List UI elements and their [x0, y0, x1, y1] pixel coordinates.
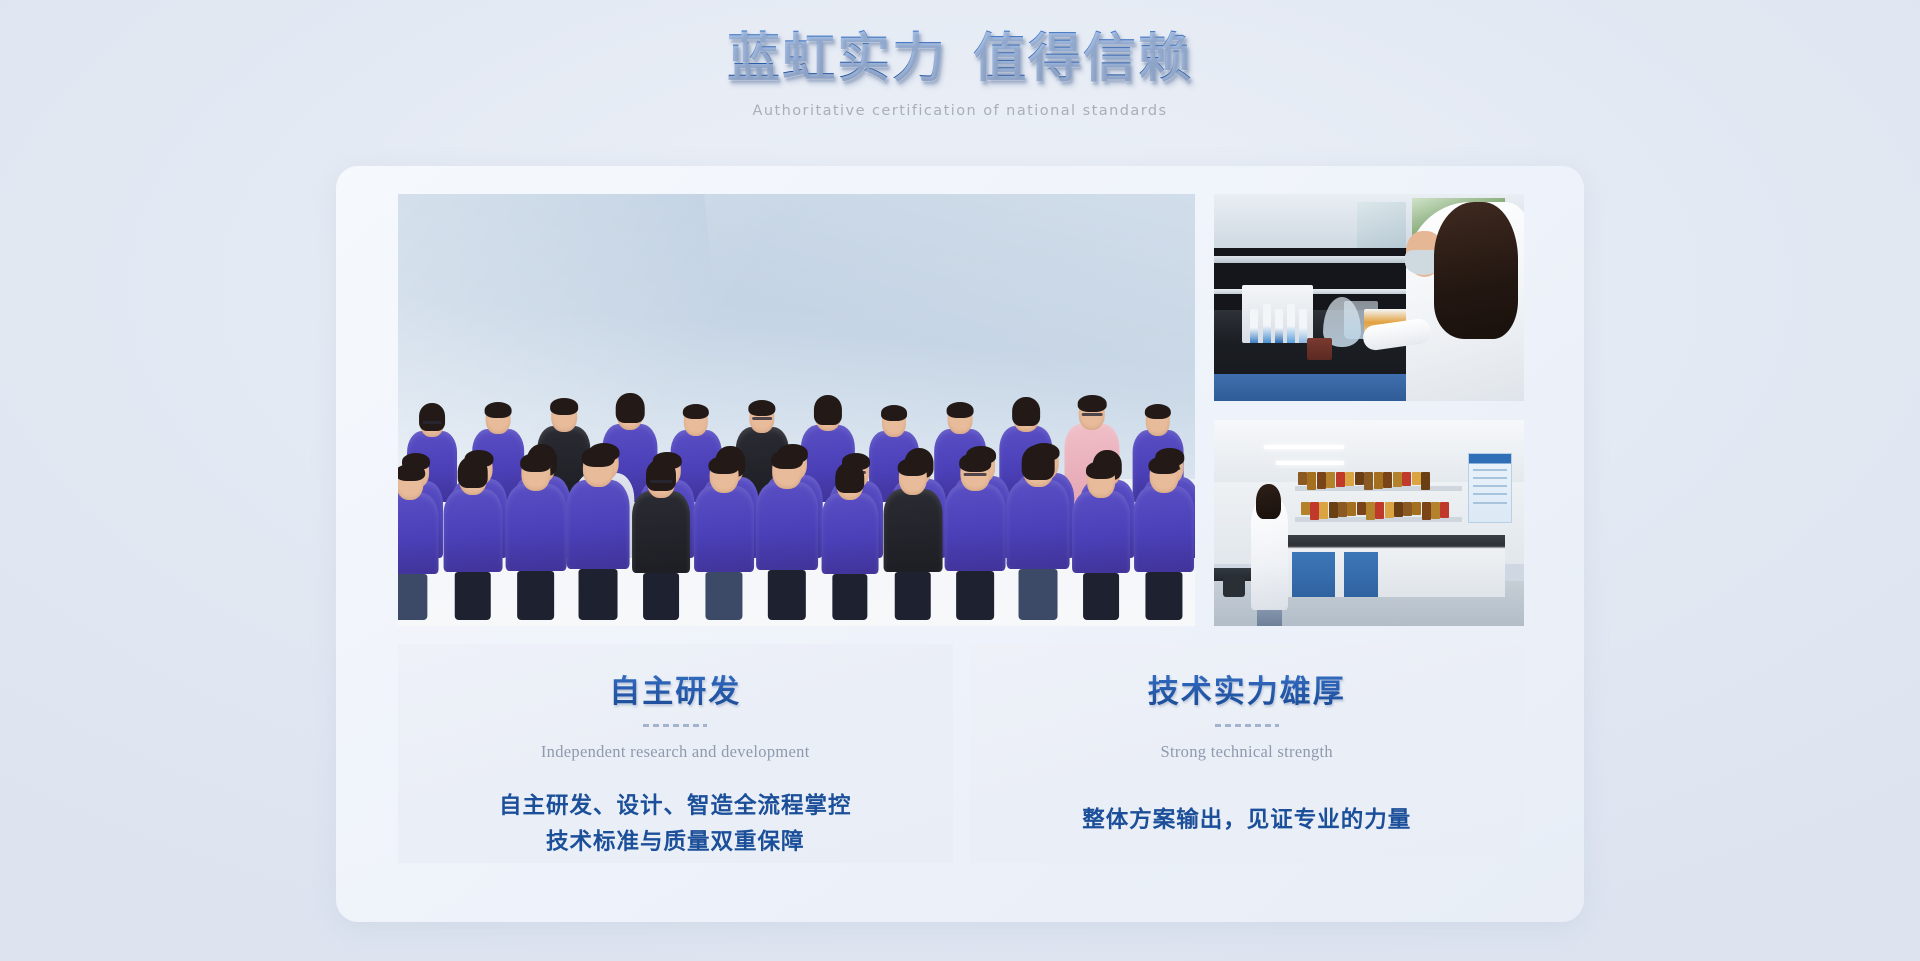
- lab2-stool: [1223, 577, 1245, 598]
- lab2-wall-poster: [1468, 453, 1511, 523]
- lab2-reagent-bottle: [1345, 472, 1354, 486]
- person-hair: [1012, 397, 1040, 426]
- lab-photo-overview[interactable]: [1214, 420, 1524, 626]
- person-hair: [814, 395, 842, 425]
- lab2-reagent-bottle: [1298, 472, 1307, 485]
- person-legs: [768, 570, 806, 620]
- lab-photo-column: [1214, 194, 1524, 626]
- person-uniform: [1007, 480, 1070, 569]
- lab2-reagent-bottle: [1393, 472, 1402, 487]
- person-legs: [398, 574, 428, 620]
- person-legs: [1145, 572, 1182, 620]
- person-uniform: [1134, 486, 1194, 571]
- lab1-reagent-bottle-b: [1316, 338, 1332, 360]
- person-hair: [748, 400, 775, 416]
- feature-card-tech[interactable]: 技术实力雄厚 Strong technical strength 整体方案输出，…: [970, 644, 1525, 863]
- person-hair: [646, 459, 676, 491]
- group-photo-person: [756, 445, 818, 620]
- lab2-reagent-bottle: [1402, 472, 1411, 486]
- feature-cards: 自主研发 Independent research and developmen…: [398, 644, 1524, 863]
- person-glasses: [423, 421, 442, 424]
- person-glasses: [964, 473, 987, 476]
- lab2-reagent-bottle: [1431, 502, 1440, 519]
- feature-card-tech-description-line1: 整体方案输出，见证专业的力量: [970, 802, 1525, 838]
- group-photo-person: [694, 451, 754, 620]
- person-legs: [517, 571, 555, 620]
- person-legs: [455, 572, 492, 620]
- person-uniform: [398, 493, 438, 574]
- lab2-reagent-bottle: [1301, 502, 1310, 515]
- lab2-cabinet-right: [1344, 552, 1378, 597]
- media-gallery: [398, 194, 1524, 626]
- group-photo-people: [398, 290, 1195, 620]
- lab2-reagent-bottle: [1307, 472, 1316, 490]
- feature-card-tech-subtitle: Strong technical strength: [970, 742, 1525, 762]
- person-hair: [520, 453, 552, 472]
- feature-card-tech-divider: [1215, 724, 1279, 727]
- lab2-reagent-bottle: [1338, 502, 1347, 517]
- lab1-window-inner: [1357, 202, 1407, 248]
- person-glasses: [752, 417, 772, 420]
- person-legs: [1019, 569, 1058, 620]
- lab2-reagent-bottle: [1412, 472, 1421, 485]
- lab2-poster-line-5: [1473, 502, 1508, 504]
- person-hair: [709, 456, 740, 475]
- person-hair: [835, 462, 865, 493]
- lab2-reagent-bottle: [1422, 502, 1431, 520]
- lab2-reagent-bottle: [1355, 472, 1364, 485]
- lab2-poster-line-1: [1473, 469, 1508, 471]
- lab2-reagent-bottle: [1385, 502, 1394, 518]
- person-legs: [894, 572, 931, 620]
- person-hair: [550, 398, 578, 415]
- person-hair: [398, 464, 425, 482]
- person-legs: [832, 574, 867, 620]
- page-title: 蓝虹实力值得信赖: [727, 26, 1193, 92]
- lab2-reagent-bottle: [1326, 472, 1335, 488]
- feature-card-rnd-subtitle: Independent research and development: [398, 742, 953, 762]
- lab2-reagent-bottle: [1310, 502, 1319, 520]
- group-photo-person: [632, 456, 690, 620]
- lab1-pipette: [1299, 309, 1307, 343]
- lab2-reagent-bottle: [1440, 502, 1449, 518]
- lab1-technician-hair: [1434, 202, 1518, 339]
- group-photo[interactable]: [398, 194, 1195, 626]
- group-photo-person: [883, 454, 942, 620]
- person-hair: [1145, 404, 1171, 420]
- lab2-ceiling-lamp-b: [1276, 461, 1344, 465]
- lab2-researcher-hair: [1256, 484, 1281, 519]
- lab2-reagent-bottle: [1336, 472, 1345, 487]
- page-header: 蓝虹实力值得信赖 Authoritative certification of …: [0, 26, 1920, 119]
- lab2-reagent-bottle: [1364, 472, 1373, 490]
- feature-card-tech-title: 技术实力雄厚: [1148, 666, 1346, 711]
- person-hair: [771, 450, 803, 469]
- lab1-pipette: [1250, 309, 1258, 343]
- lab2-poster-line-2: [1473, 477, 1508, 479]
- group-photo-person: [398, 459, 438, 620]
- person-uniform: [567, 480, 630, 569]
- person-uniform: [505, 484, 566, 571]
- person-hair: [458, 456, 489, 488]
- person-glasses: [1082, 413, 1103, 416]
- person-hair: [881, 405, 907, 420]
- feature-card-rnd-description-line1: 自主研发、设计、智造全流程掌控: [398, 788, 953, 824]
- lab2-reagent-bottle: [1319, 502, 1328, 519]
- person-uniform: [756, 482, 818, 570]
- lab1-pipette: [1263, 304, 1271, 343]
- person-hair: [1022, 445, 1055, 479]
- lab2-reagent-bottle: [1317, 472, 1326, 489]
- person-uniform: [443, 489, 502, 573]
- person-uniform: [945, 484, 1006, 571]
- person-hair: [683, 404, 709, 420]
- person-legs: [706, 572, 743, 620]
- person-uniform: [1072, 491, 1130, 573]
- group-photo-person: [821, 459, 878, 620]
- person-uniform: [821, 493, 878, 574]
- lab2-reagent-bottle: [1421, 472, 1430, 490]
- feature-card-rnd[interactable]: 自主研发 Independent research and developmen…: [398, 644, 953, 863]
- content-panel: 自主研发 Independent research and developmen…: [336, 166, 1584, 922]
- feature-card-rnd-description: 自主研发、设计、智造全流程掌控 技术标准与质量双重保障: [398, 788, 953, 859]
- lab2-cabinet-left: [1292, 552, 1335, 597]
- lab2-reagent-bottle: [1366, 502, 1375, 520]
- lab2-reagent-bottle: [1383, 472, 1392, 488]
- lab1-pipette: [1287, 304, 1295, 343]
- person-legs: [1083, 573, 1119, 620]
- group-photo-person: [1072, 456, 1130, 620]
- person-hair: [582, 447, 615, 466]
- feature-card-rnd-title: 自主研发: [609, 666, 741, 711]
- group-photo-person: [443, 454, 502, 620]
- lab2-ceiling-lamp-a: [1264, 445, 1345, 449]
- group-photo-person: [567, 442, 630, 620]
- lab2-reagent-bottle: [1329, 502, 1338, 518]
- lab-photo-technician[interactable]: [1214, 194, 1524, 401]
- group-photo-person: [1007, 442, 1070, 620]
- lab1-pipette: [1275, 309, 1283, 343]
- lab2-reagent-bottle: [1347, 502, 1356, 516]
- person-uniform: [632, 491, 690, 573]
- feature-card-rnd-description-line2: 技术标准与质量双重保障: [398, 824, 953, 860]
- feature-card-tech-description: 整体方案输出，见证专业的力量: [970, 802, 1525, 838]
- lab2-reagent-bottle: [1412, 502, 1421, 515]
- person-legs: [579, 569, 618, 620]
- person-legs: [643, 573, 679, 620]
- person-legs: [957, 571, 995, 620]
- person-uniform: [694, 486, 754, 571]
- group-photo-person: [945, 448, 1006, 620]
- lab2-reagent-bottle: [1394, 502, 1403, 517]
- person-hair: [616, 393, 645, 423]
- person-hair: [485, 402, 512, 418]
- page-subtitle: Authoritative certification of national …: [0, 103, 1920, 119]
- lab2-poster-line-4: [1473, 493, 1508, 495]
- group-photo-person: [505, 448, 566, 620]
- person-hair: [947, 402, 974, 418]
- person-glasses: [650, 480, 672, 483]
- person-hair: [419, 403, 445, 430]
- person-hair: [1086, 461, 1116, 479]
- page-title-part1: 蓝虹实力: [727, 30, 947, 88]
- person-hair: [1078, 395, 1107, 412]
- lab2-reagent-bottle: [1357, 502, 1366, 515]
- lab2-reagent-bottle: [1375, 502, 1384, 519]
- lab2-reagent-bottle: [1403, 502, 1412, 516]
- feature-card-rnd-divider: [643, 724, 707, 727]
- lab1-pipette-rack: [1242, 285, 1313, 343]
- lab2-reagent-bottle: [1374, 472, 1383, 489]
- group-photo-person: [1134, 451, 1194, 620]
- person-uniform: [883, 489, 942, 573]
- person-hair: [1148, 456, 1179, 475]
- person-hair: [897, 458, 928, 476]
- person-hair: [960, 453, 992, 472]
- lab2-poster-line-3: [1473, 485, 1508, 487]
- page-title-part2: 值得信赖: [947, 30, 1193, 88]
